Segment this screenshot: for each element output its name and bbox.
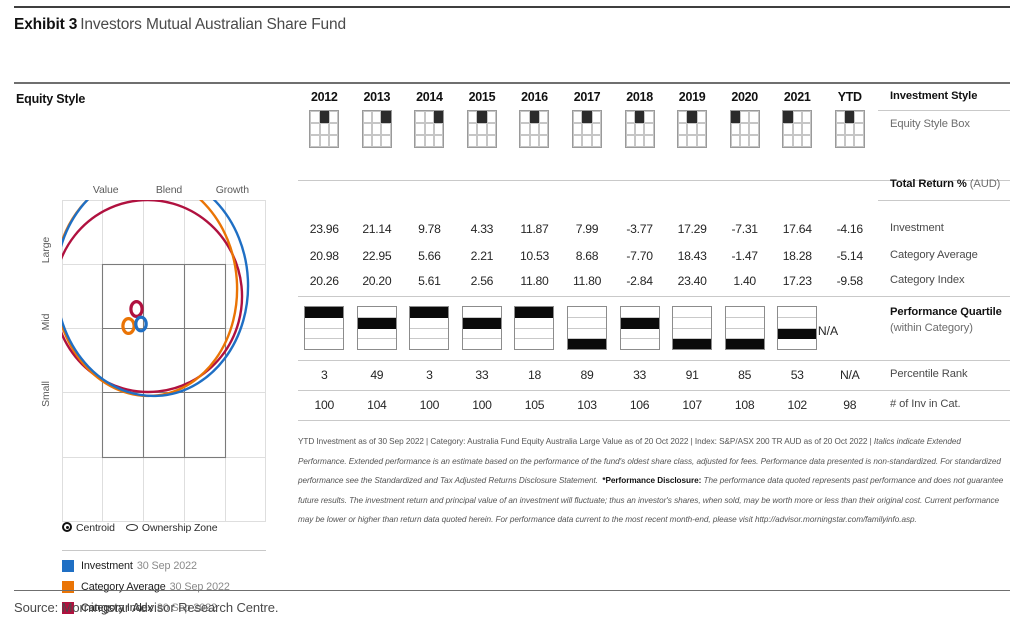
return-row-category-average: 20.9822.955.662.2110.538.68-7.7018.43-1.… (298, 249, 876, 263)
style-box-cell (508, 110, 561, 148)
legend-item-investment: Investment 30 Sep 2022 (62, 560, 277, 572)
legend-divider (62, 550, 266, 551)
style-inner-grid (103, 265, 226, 458)
inv-count-cell: 105 (508, 398, 561, 412)
return-cell: 22.95 (351, 249, 404, 263)
exhibit-panel: Equity Style Value Blend Growth Large Mi… (14, 82, 1010, 572)
return-cell: 8.68 (561, 249, 614, 263)
column-header-2020: 2020 (718, 90, 771, 104)
percentile-cell: 33 (613, 368, 666, 382)
return-cell: 9.78 (403, 222, 456, 236)
quartile-cell (561, 306, 614, 350)
rule-under-investment-style-label (878, 110, 1010, 111)
return-cell: 23.40 (666, 274, 719, 288)
return-cell: -7.31 (718, 222, 771, 236)
table-header-row: 2012201320142015201620172018201920202021… (298, 90, 876, 104)
percentile-rank-row: 349333188933918553N/A (298, 368, 876, 382)
style-box-icon (467, 110, 497, 148)
inv-count-cell: 103 (561, 398, 614, 412)
rule-under-total-return-label (878, 200, 1010, 201)
quartile-bar-icon (304, 306, 344, 350)
return-cell: 11.80 (508, 274, 561, 288)
x-label-growth: Growth (201, 184, 264, 196)
column-header-2017: 2017 (561, 90, 614, 104)
return-cell: 20.20 (351, 274, 404, 288)
return-cell: -9.58 (823, 274, 876, 288)
centroid-category-index (131, 302, 142, 317)
column-header-2019: 2019 (666, 90, 719, 104)
legend-date-investment: 30 Sep 2022 (137, 560, 197, 572)
y-label-mid: Mid (40, 295, 52, 349)
style-box-icon (309, 110, 339, 148)
style-box-cell (718, 110, 771, 148)
percentile-cell: 3 (403, 368, 456, 382)
column-header-2014: 2014 (403, 90, 456, 104)
style-box-row (298, 110, 876, 148)
column-header-2013: 2013 (351, 90, 404, 104)
quartile-cell (298, 306, 351, 350)
style-box-icon (730, 110, 760, 148)
x-label-value: Value (74, 184, 137, 196)
quartile-bar-icon (725, 306, 765, 350)
centroid-legend-item: Centroid (62, 522, 115, 534)
quartile-bar-icon (620, 306, 660, 350)
return-cell: 7.99 (561, 222, 614, 236)
return-cell: 23.96 (298, 222, 351, 236)
style-box-icon (677, 110, 707, 148)
inv-count-cell: 102 (771, 398, 824, 412)
label-investment-style: Investment Style (890, 90, 1020, 102)
style-box-cell (351, 110, 404, 148)
inv-count-cell: 100 (403, 398, 456, 412)
footnote-block: YTD Investment as of 30 Sep 2022 | Categ… (298, 432, 1010, 530)
inv-count-cell: 106 (613, 398, 666, 412)
label-total-return-text: Total Return % (890, 178, 967, 190)
style-box-cell (403, 110, 456, 148)
quartile-bar-icon (462, 306, 502, 350)
percentile-cell: 33 (456, 368, 509, 382)
percentile-cell: 49 (351, 368, 404, 382)
label-equity-style-box: Equity Style Box (890, 118, 1020, 130)
label-performance-quartile: Performance Quartile (890, 306, 1020, 318)
centroid-legend-label: Centroid (76, 522, 115, 534)
label-percentile-rank: Percentile Rank (890, 368, 1020, 380)
label-inv-in-cat: # of Inv in Cat. (890, 398, 1020, 410)
title-top-rule (14, 6, 1010, 8)
label-total-return-currency: (AUD) (970, 178, 1001, 190)
percentile-cell: 18 (508, 368, 561, 382)
return-cell: 11.87 (508, 222, 561, 236)
style-box-icon (362, 110, 392, 148)
style-x-axis-labels: Value Blend Growth (74, 184, 264, 196)
inv-count-cell: 107 (666, 398, 719, 412)
equity-style-heading: Equity Style (16, 92, 85, 106)
return-cell: -1.47 (718, 249, 771, 263)
return-cell: 21.14 (351, 222, 404, 236)
rule-after-returns (298, 296, 1010, 297)
return-cell: 20.26 (298, 274, 351, 288)
return-cell: 17.23 (771, 274, 824, 288)
column-header-2021: 2021 (771, 90, 824, 104)
fund-name: Investors Mutual Australian Share Fund (80, 16, 346, 33)
return-cell: 5.66 (403, 249, 456, 263)
return-cell: 17.29 (666, 222, 719, 236)
rule-after-inv-count (298, 420, 1010, 421)
percentile-cell: N/A (823, 368, 876, 382)
column-header-2018: 2018 (613, 90, 666, 104)
column-header-ytd: YTD (823, 90, 876, 104)
performance-table: 2012201320142015201620172018201920202021… (298, 82, 1010, 572)
centroid-category-average (123, 319, 134, 334)
quartile-bar-icon (567, 306, 607, 350)
label-row-category-average: Category Average (890, 249, 1020, 261)
style-box-cell (561, 110, 614, 148)
quartile-na-cell: N/A (780, 324, 876, 338)
style-box-icon (414, 110, 444, 148)
y-label-small: Small (40, 367, 52, 421)
source-top-rule (14, 590, 1010, 591)
quartile-cell (613, 306, 666, 350)
style-box-icon (782, 110, 812, 148)
percentile-cell: 3 (298, 368, 351, 382)
quartile-cell (403, 306, 456, 350)
equity-style-pane: Equity Style Value Blend Growth Large Mi… (14, 82, 282, 572)
return-cell: -4.16 (823, 222, 876, 236)
style-box-cell (666, 110, 719, 148)
column-header-2012: 2012 (298, 90, 351, 104)
column-header-2015: 2015 (456, 90, 509, 104)
label-row-investment: Investment (890, 222, 1020, 234)
style-box-cell (823, 110, 876, 148)
legend-swatch-investment (62, 560, 74, 572)
quartile-bar-icon (357, 306, 397, 350)
return-cell: -3.77 (613, 222, 666, 236)
quartile-bar-icon (672, 306, 712, 350)
percentile-cell: 53 (771, 368, 824, 382)
return-cell: 5.61 (403, 274, 456, 288)
source-note: Source: Morningstar Advisor Research Cen… (14, 600, 278, 615)
return-cell: 20.98 (298, 249, 351, 263)
exhibit-label: Exhibit 3 (14, 16, 77, 33)
x-label-blend: Blend (137, 184, 200, 196)
label-performance-quartile-sub: (within Category) (890, 322, 1020, 334)
quartile-cell (351, 306, 404, 350)
label-row-category-index: Category Index (890, 274, 1020, 286)
footnote-line1-plain: YTD Investment as of 30 Sep 2022 | Categ… (298, 437, 874, 446)
return-row-category-index: 20.2620.205.612.5611.8011.80-2.8423.401.… (298, 274, 876, 288)
percentile-cell: 85 (718, 368, 771, 382)
marker-legend: Centroid Ownership Zone (62, 522, 277, 534)
quartile-cell (456, 306, 509, 350)
inv-count-cell: 100 (456, 398, 509, 412)
inv-count-cell: 98 (823, 398, 876, 412)
percentile-cell: 89 (561, 368, 614, 382)
return-cell: 10.53 (508, 249, 561, 263)
return-cell: 4.33 (456, 222, 509, 236)
rule-after-quartiles (298, 360, 1010, 361)
ownership-zone-legend-item: Ownership Zone (126, 522, 218, 534)
column-header-2016: 2016 (508, 90, 561, 104)
style-box-icon (625, 110, 655, 148)
label-total-return: Total Return % (AUD) (890, 178, 1020, 190)
return-cell: -2.84 (613, 274, 666, 288)
inv-count-cell: 104 (351, 398, 404, 412)
quartile-cell (718, 306, 771, 350)
style-box-icon (572, 110, 602, 148)
ownership-zone-icon (126, 524, 138, 531)
return-cell: 1.40 (718, 274, 771, 288)
rule-after-percentile (298, 390, 1010, 391)
return-cell: 2.56 (456, 274, 509, 288)
legend-label-investment: Investment (81, 560, 133, 572)
style-box-icon (519, 110, 549, 148)
page-title: Exhibit 3Investors Mutual Australian Sha… (14, 16, 914, 34)
quartile-cell (666, 306, 719, 350)
quartile-bar-icon (409, 306, 449, 350)
style-box-cell (771, 110, 824, 148)
inv-count-cell: 108 (718, 398, 771, 412)
style-box-cell (298, 110, 351, 148)
quartile-bar-icon (514, 306, 554, 350)
style-box-cell (456, 110, 509, 148)
quartile-cell (508, 306, 561, 350)
return-cell: -7.70 (613, 249, 666, 263)
inv-count-cell: 100 (298, 398, 351, 412)
style-box-icon (835, 110, 865, 148)
footnote-disclosure-label: *Performance Disclosure: (602, 476, 701, 485)
return-cell: 17.64 (771, 222, 824, 236)
y-label-large: Large (40, 223, 52, 277)
return-cell: 18.43 (666, 249, 719, 263)
centroid-icon (62, 522, 72, 532)
percentile-cell: 91 (666, 368, 719, 382)
return-cell: -5.14 (823, 249, 876, 263)
ownership-zone-legend-label: Ownership Zone (142, 522, 218, 534)
return-row-investment: 23.9621.149.784.3311.877.99-3.7717.29-7.… (298, 222, 876, 236)
style-box-cell (613, 110, 666, 148)
return-cell: 18.28 (771, 249, 824, 263)
return-cell: 11.80 (561, 274, 614, 288)
investments-in-category-row: 10010410010010510310610710810298 (298, 398, 876, 412)
equity-style-box-chart (62, 200, 266, 522)
return-cell: 2.21 (456, 249, 509, 263)
style-outer-gridlines (62, 200, 266, 522)
